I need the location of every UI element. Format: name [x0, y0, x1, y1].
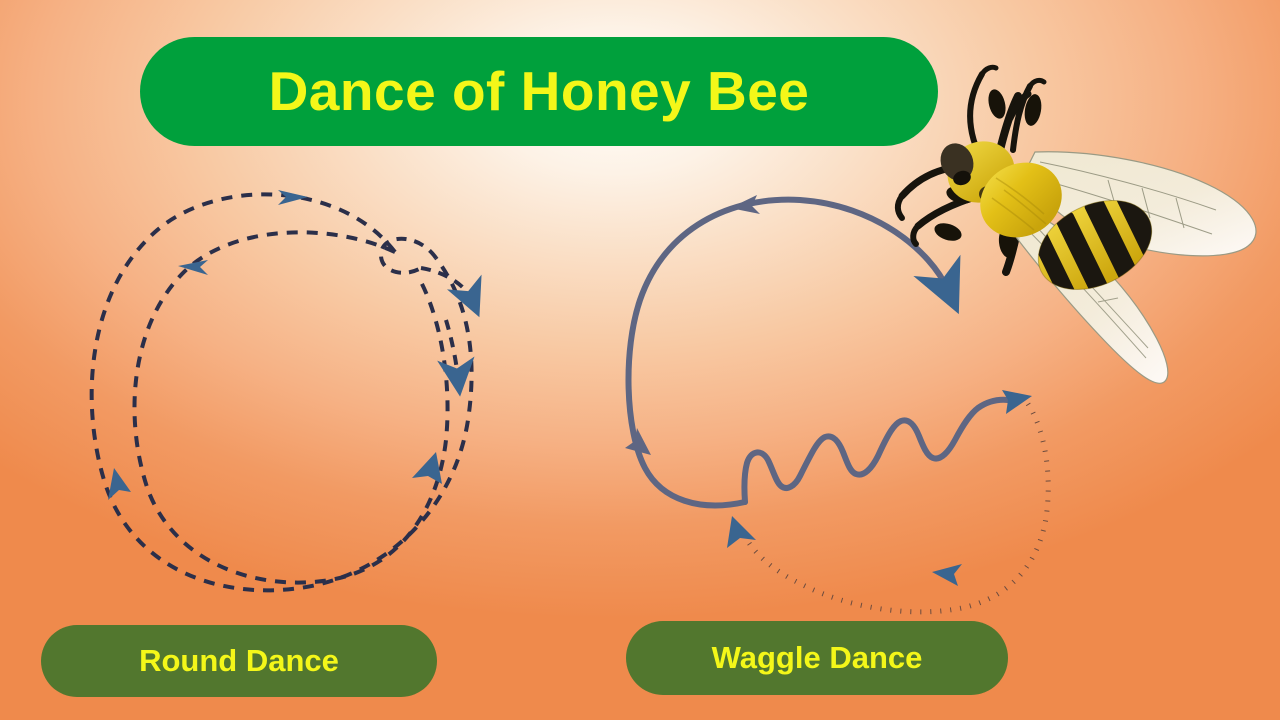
honey-bee-image	[0, 0, 1280, 720]
poster-canvas: Dance of Honey Bee Round Dance Waggle Da…	[0, 0, 1280, 720]
